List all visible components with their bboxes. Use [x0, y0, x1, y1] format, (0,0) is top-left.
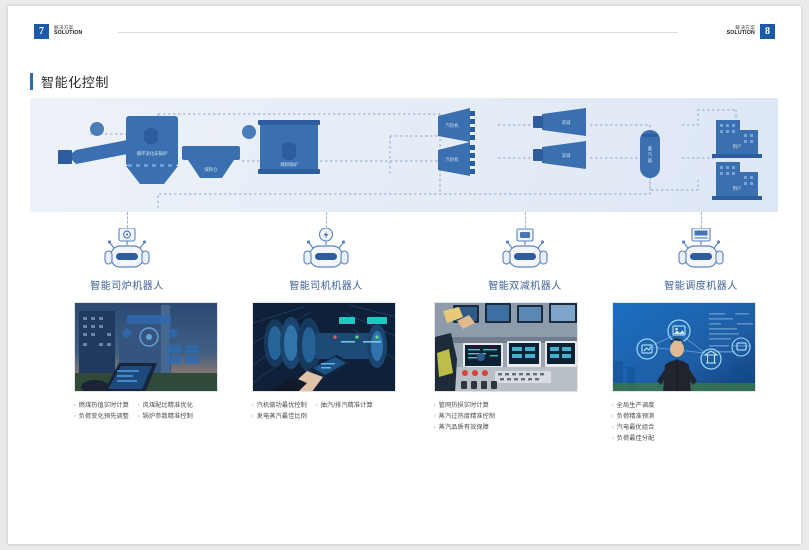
steam-turbine-digital-photo [252, 302, 396, 392]
power-plant-tablet-photo [74, 302, 218, 392]
bullet-item: 蒸汽品质有效保障 [434, 423, 495, 434]
header-right-group: 解决方案 SOLUTION 8 [727, 24, 775, 39]
card-dispatch: 全局生产调度 负荷精准预测 汽电最优组合 负荷最佳分配 [612, 302, 756, 444]
bullet-column: 抽汽/排汽精准计算 [316, 401, 373, 423]
bullet-item: 汽电最优组合 [612, 423, 654, 434]
bullet-item: 管网热损实时计算 [434, 401, 495, 412]
robot-valve-icon [496, 228, 554, 272]
node-pulverized-coal-boiler: 煤粉锅炉 [258, 120, 320, 174]
svg-text:双减: 双减 [562, 152, 571, 159]
bullet-item: 风煤配比精准优化 [138, 401, 193, 412]
node-customer-2: 用户 [712, 162, 762, 200]
engineer-digital-overlay-photo [612, 302, 756, 392]
svg-text:汽轮机: 汽轮机 [445, 156, 459, 163]
card-dual-reduction: 管网热损实时计算 蒸汽过热度精准控制 蒸汽品质有效保障 [434, 302, 578, 434]
node-dual-reduction-1: 双减 [533, 108, 586, 136]
bullet-item: 全局生产调度 [612, 401, 654, 412]
robot-dispatch[interactable]: 智能调度机器人 [626, 212, 776, 292]
header-divider [118, 32, 678, 33]
bullet-item: 汽机做功最优控制 [252, 401, 307, 412]
node-steam-turbine-1: 汽轮机 [438, 108, 475, 142]
robot-label: 智能司炉机器人 [52, 277, 202, 292]
bullet-item: 蒸汽过热度精准控制 [434, 412, 495, 423]
robot-connector-line [701, 212, 702, 228]
robot-dual-reduction[interactable]: 智能双减机器人 [450, 212, 600, 292]
robot-connector-line [326, 212, 327, 228]
card-boiler-operator: 燃煤热值实时计算 负荷变化预先调整 风煤配比精准优化 锅炉参数精准控制 [74, 302, 218, 423]
title-text: 智能化控制 [41, 72, 109, 91]
card-turbine-driver: 汽机做功最优控制 发电蒸汽最佳比例 抽汽/排汽精准计算 [252, 302, 396, 423]
left-page-number: 7 [34, 24, 49, 39]
svg-text:双减: 双减 [562, 119, 571, 126]
node-steam-accumulator: 蓄 汽 器 [640, 130, 660, 178]
node-steam-turbine-2: 汽轮机 [438, 142, 475, 176]
bullet-column: 全局生产调度 负荷精准预测 汽电最优组合 负荷最佳分配 [612, 401, 654, 444]
header-left-group: 7 解决方案 SOLUTION [34, 24, 82, 39]
robot-connector-line [127, 212, 128, 228]
svg-text:煤粉仓: 煤粉仓 [204, 166, 218, 173]
robot-connector-line [525, 212, 526, 228]
slide: 7 解决方案 SOLUTION 解决方案 SOLUTION 8 智能化控制 .d… [8, 6, 801, 544]
bullet-list: 汽机做功最优控制 发电蒸汽最佳比例 抽汽/排汽精准计算 [252, 401, 396, 423]
robot-label: 智能调度机器人 [626, 277, 776, 292]
node-cfb-boiler: 循环流化床锅炉 [58, 116, 178, 184]
robot-row: 智能司炉机器人 智能司机机器人 [30, 212, 778, 300]
robot-turbine-driver[interactable]: 智能司机机器人 [251, 212, 401, 292]
robot-gear-icon [98, 228, 156, 272]
bullet-item: 负荷精准预测 [612, 412, 654, 423]
bullet-item: 燃煤热值实时计算 [74, 401, 129, 412]
bullet-column: 汽机做功最优控制 发电蒸汽最佳比例 [252, 401, 307, 423]
node-customer-1: 用户 [712, 120, 762, 158]
slide-header: 7 解决方案 SOLUTION 解决方案 SOLUTION 8 [8, 6, 801, 46]
bullet-item: 发电蒸汽最佳比例 [252, 412, 307, 423]
bullet-item: 负荷变化预先调整 [74, 412, 129, 423]
svg-text:蓄: 蓄 [648, 145, 653, 152]
svg-text:汽轮: 汽轮 [411, 127, 420, 134]
node-dual-reduction-2: 双减 [533, 141, 586, 169]
bullet-column: 风煤配比精准优化 锅炉参数精准控制 [138, 401, 193, 423]
bullet-list: 全局生产调度 负荷精准预测 汽电最优组合 负荷最佳分配 [612, 401, 756, 444]
right-page-number: 8 [760, 24, 775, 39]
robot-boiler-operator[interactable]: 智能司炉机器人 [52, 212, 202, 292]
title-accent-bar [30, 73, 33, 90]
header-left-en: SOLUTION [54, 31, 82, 36]
svg-text:用户: 用户 [733, 143, 742, 150]
robot-label: 智能双减机器人 [450, 277, 600, 292]
process-flow-diagram: .dl{stroke:#8fa9cf;stroke-width:1;stroke… [30, 98, 778, 212]
node-coal-bunker: 煤粉仓 [182, 125, 256, 178]
svg-text:煤粉锅炉: 煤粉锅炉 [280, 161, 298, 168]
control-room-photo [434, 302, 578, 392]
robot-label: 智能司机机器人 [251, 277, 401, 292]
page-title: 智能化控制 [30, 72, 109, 91]
svg-text:汽轮机: 汽轮机 [445, 122, 459, 129]
bullet-column: 管网热损实时计算 蒸汽过热度精准控制 蒸汽品质有效保障 [434, 401, 495, 434]
robot-chart-icon [672, 228, 730, 272]
header-right-en: SOLUTION [727, 31, 755, 36]
header-right-text: 解决方案 SOLUTION [727, 26, 755, 36]
svg-text:用户: 用户 [733, 185, 742, 192]
bullet-item: 锅炉参数精准控制 [138, 412, 193, 423]
bullet-item: 负荷最佳分配 [612, 434, 654, 445]
bullet-item: 抽汽/排汽精准计算 [316, 401, 373, 412]
bullet-column: 燃煤热值实时计算 负荷变化预先调整 [74, 401, 129, 423]
svg-text:循环流化床锅炉: 循环流化床锅炉 [137, 150, 168, 157]
bullet-list: 管网热损实时计算 蒸汽过热度精准控制 蒸汽品质有效保障 [434, 401, 578, 434]
header-left-text: 解决方案 SOLUTION [54, 26, 82, 36]
bullet-list: 燃煤热值实时计算 负荷变化预先调整 风煤配比精准优化 锅炉参数精准控制 [74, 401, 218, 423]
robot-bolt-icon [297, 228, 355, 272]
svg-text:汽: 汽 [648, 151, 653, 157]
